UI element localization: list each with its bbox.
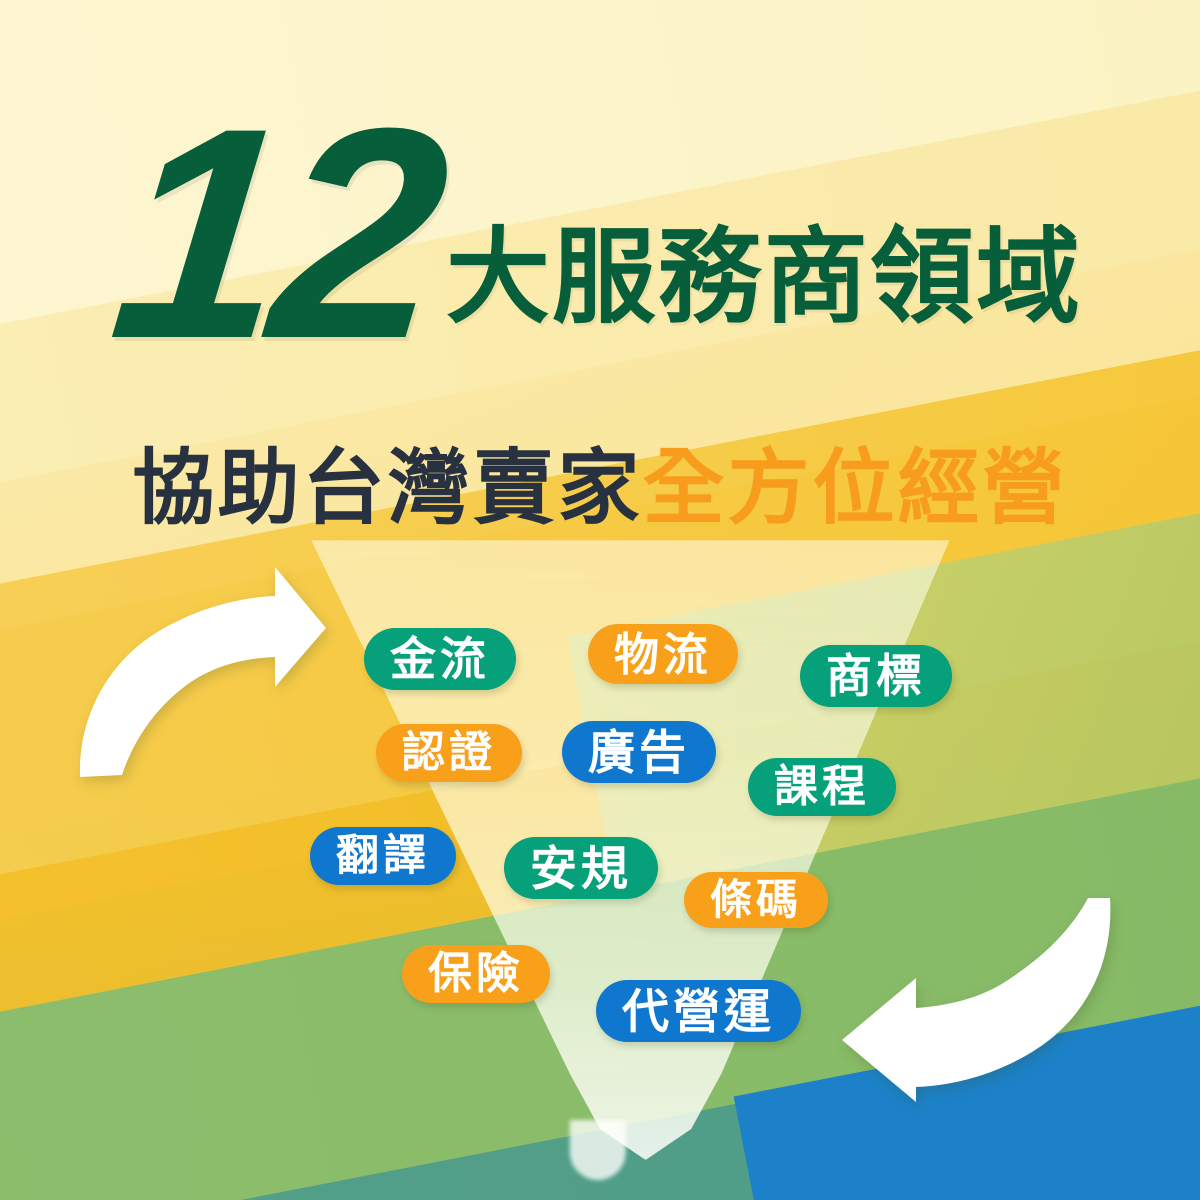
service-pill-baoxian[interactable]: 保險: [402, 945, 550, 1003]
service-pill-jinliu[interactable]: 金流: [364, 628, 516, 690]
funnel-tip: [570, 1120, 626, 1180]
curved-arrow-left-icon: [820, 890, 1120, 1105]
service-pill-fanyi[interactable]: 翻譯: [310, 827, 456, 885]
curved-arrow-right-icon: [70, 565, 330, 780]
service-pill-angui[interactable]: 安規: [504, 837, 658, 899]
service-pill-kecheng[interactable]: 課程: [748, 758, 896, 816]
poster-canvas: 12 大服務商領域 協助台灣賣家全方位經營 金流 物流 商標 認證 廣告 課程 …: [0, 0, 1200, 1200]
service-pill-guanggao[interactable]: 廣告: [562, 721, 716, 783]
service-pill-daiyunying[interactable]: 代營運: [596, 980, 801, 1042]
service-pill-renzheng[interactable]: 認證: [376, 724, 522, 782]
service-pill-shangbiao[interactable]: 商標: [800, 645, 952, 707]
service-pill-wuliu[interactable]: 物流: [588, 624, 738, 684]
service-pill-tiaoma[interactable]: 條碼: [684, 872, 828, 928]
